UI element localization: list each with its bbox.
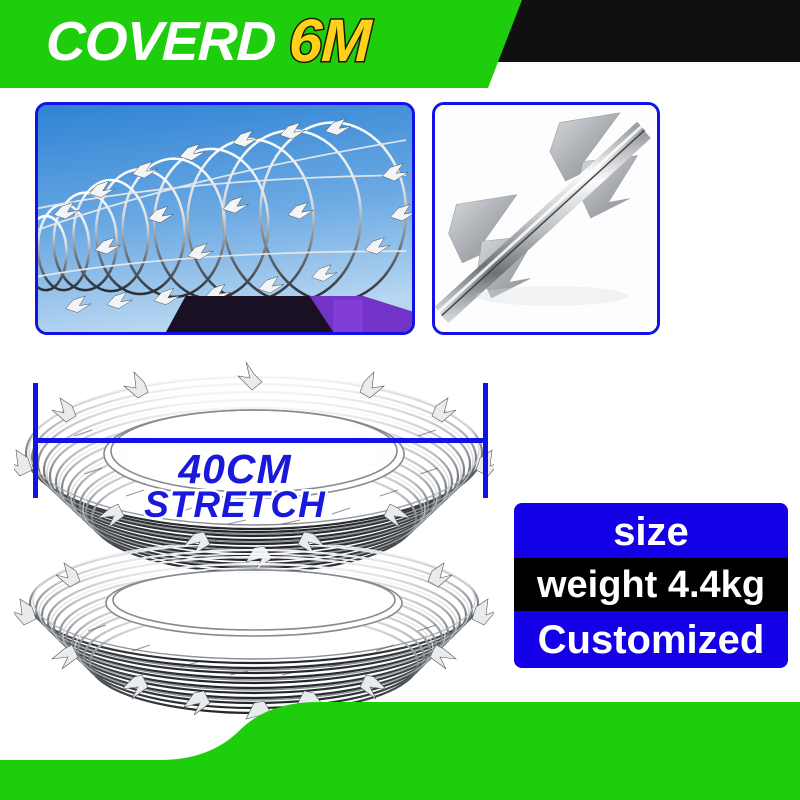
dimension-label: STRETCH [0, 486, 470, 523]
product-marketing-banner: COVERD 6M [0, 0, 800, 800]
photo-panel-razor-wire-fence [35, 102, 415, 335]
spec-row-size: size [514, 503, 788, 558]
length-badge: 6M [288, 11, 371, 71]
spec-row-weight: weight 4.4kg [514, 558, 788, 612]
brand-name: COVERD [45, 14, 276, 69]
spec-info-box: size weight 4.4kg Customized [514, 503, 788, 668]
header-title-group: COVERD 6M [46, 6, 371, 76]
razor-blade-closeup-illustration [435, 105, 657, 332]
footer-green-band [0, 690, 800, 800]
razor-wire-coils-illustration [38, 105, 412, 332]
photo-panel-razor-blade-closeup [432, 102, 660, 335]
spec-row-customized: Customized [514, 611, 788, 668]
dimension-caliper-span [33, 438, 488, 443]
